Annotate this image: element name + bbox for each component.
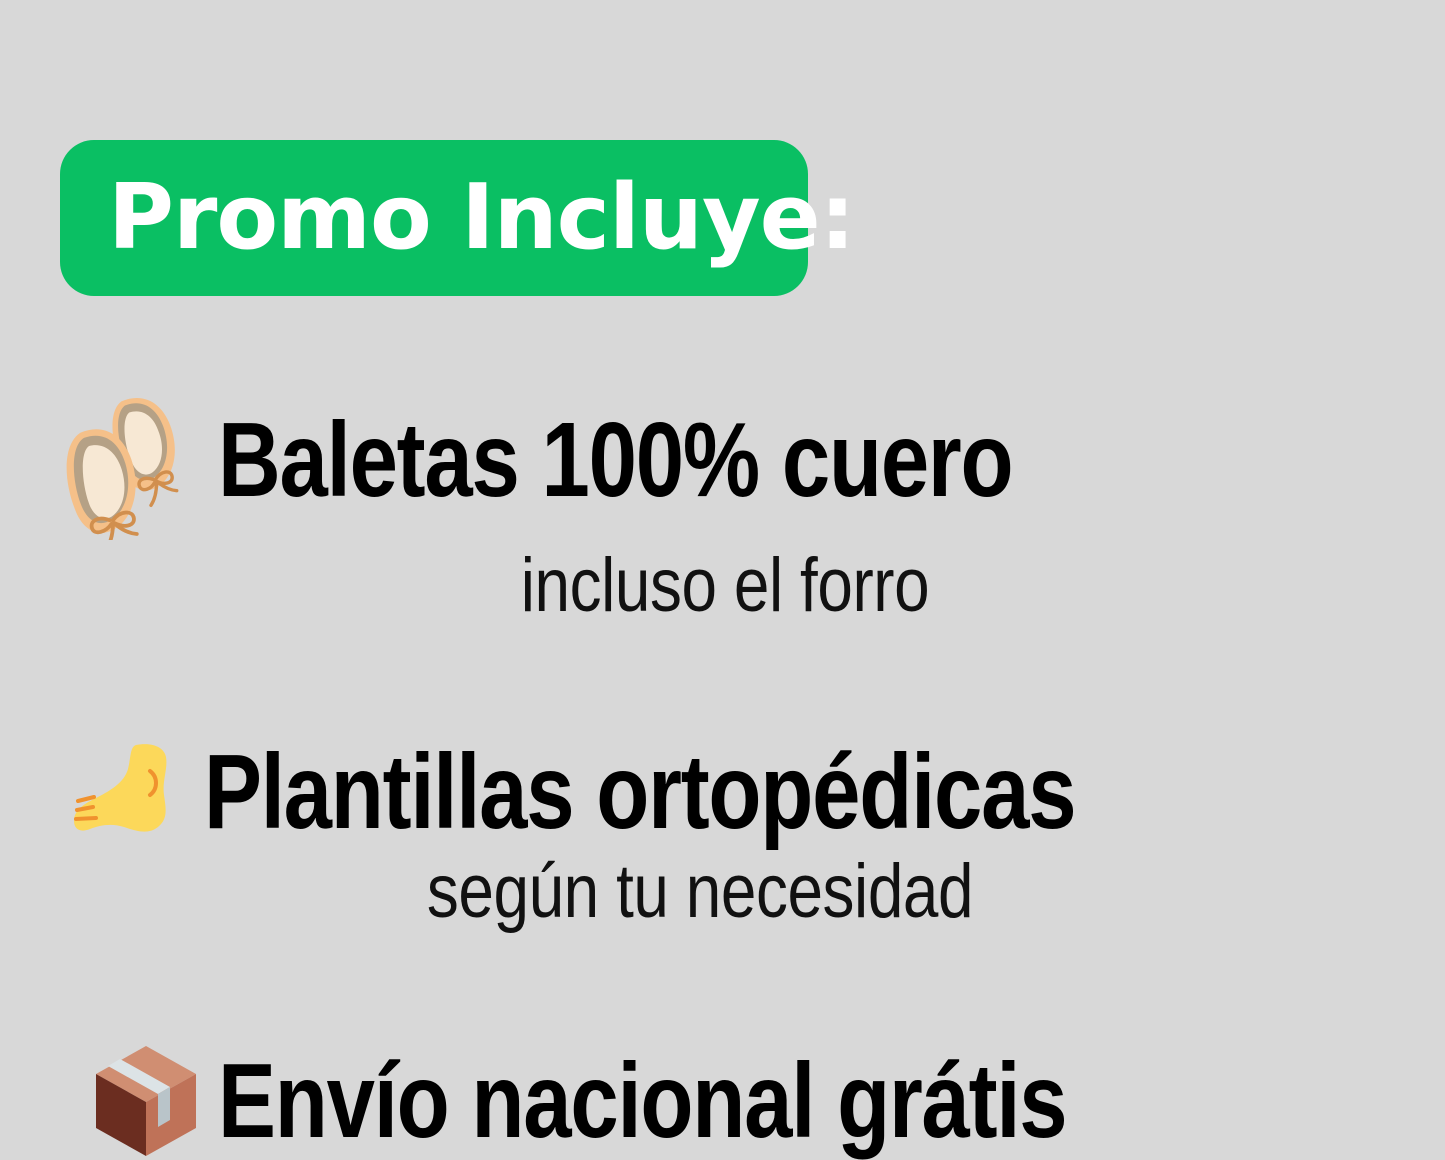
benefit-main-row: Envío nacional grátis — [0, 1042, 1445, 1160]
benefit-title-envio: Envío nacional grátis — [218, 1047, 1066, 1155]
benefit-main-row: Baletas 100% cuero — [0, 380, 1445, 540]
benefit-item-baletas: Baletas 100% cuero incluso el forro — [0, 380, 1445, 626]
benefit-subtitle-baletas: incluso el forro — [276, 546, 1175, 626]
promo-badge: Promo Incluye: — [60, 140, 808, 296]
promo-badge-label: Promo Incluye: — [108, 173, 855, 263]
package-box-icon — [90, 1042, 202, 1160]
foot-icon — [72, 739, 196, 845]
benefit-title-baletas: Baletas 100% cuero — [218, 406, 1012, 514]
benefit-title-plantillas: Plantillas ortopédicas — [204, 738, 1075, 846]
benefits-list: Baletas 100% cuero incluso el forro — [0, 380, 1445, 1160]
ballet-shoes-icon — [58, 380, 208, 540]
benefit-main-row: Plantillas ortopédicas — [0, 738, 1445, 846]
benefit-item-envio: Envío nacional grátis — [0, 1042, 1445, 1160]
benefit-item-plantillas: Plantillas ortopédicas según tu necesida… — [0, 738, 1445, 932]
promo-card: Promo Incluye: — [0, 0, 1445, 1156]
benefit-subtitle-plantillas: según tu necesidad — [204, 852, 1195, 932]
